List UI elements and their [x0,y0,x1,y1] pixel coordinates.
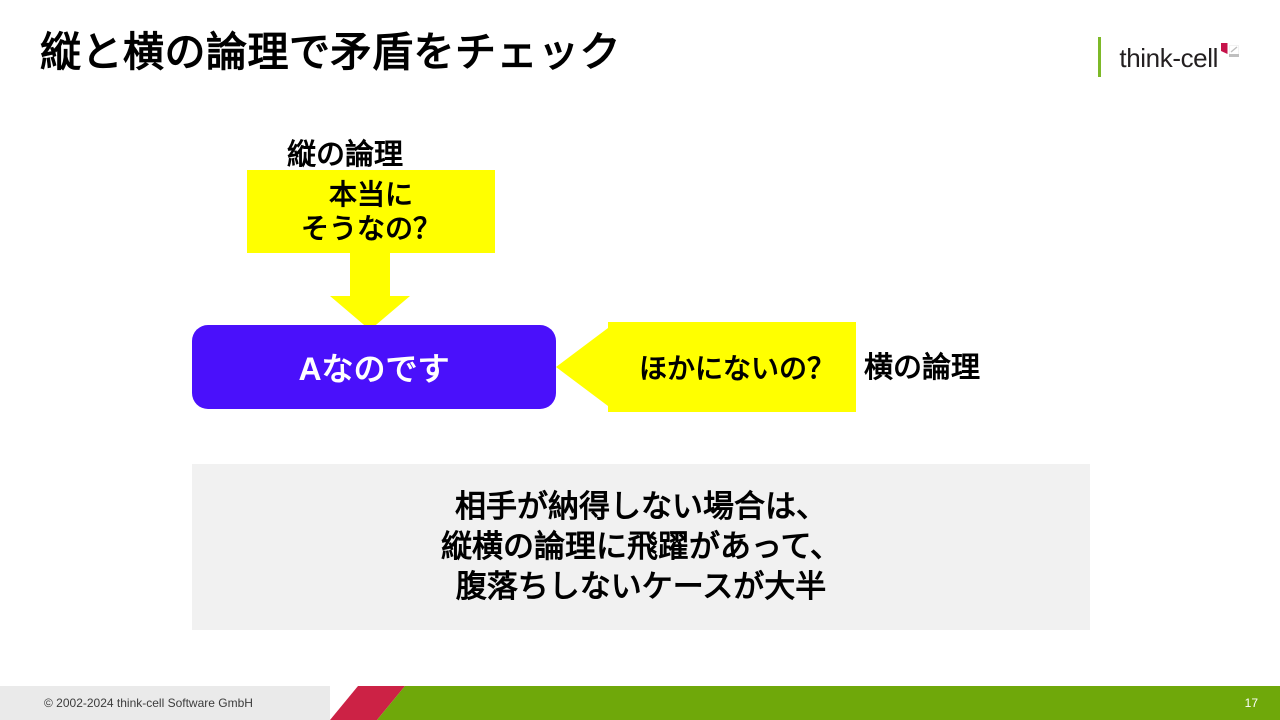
down-arrow-icon [329,252,411,331]
page-title: 縦と横の論理で矛盾をチェック [40,18,621,78]
conclusion-box: Aなのです [192,325,556,409]
summary-note-line-2: 縦横の論理に飛躍があって、 [441,527,841,567]
horizontal-logic-label: 横の論理 [864,344,980,386]
brand-logo: think-cell [1098,36,1240,78]
horizontal-question-arrow-box: ほかにないの？ [556,322,856,412]
horizontal-question-text: ほかにないの？ [618,322,856,412]
vertical-question-line-2: そうなの？ [301,212,441,245]
footer-bar: © 2002-2024 think-cell Software GmbH 17 [0,686,1280,720]
logo-divider-rule [1098,37,1101,77]
vertical-question-box: 本当に そうなの？ [247,170,495,253]
vertical-logic-label: 縦の論理 [287,131,403,173]
think-cell-mark-icon [1220,42,1240,62]
conclusion-text: Aなのです [298,344,449,390]
vertical-question-line-1: 本当に [329,178,413,211]
footer-copyright: © 2002-2024 think-cell Software GmbH [44,686,253,720]
logo-wordmark: think-cell [1119,45,1218,71]
summary-note-line-3: 腹落ちしないケースが大半 [456,567,826,607]
footer-page-number: 17 [1245,686,1258,720]
summary-note-box: 相手が納得しない場合は、 縦横の論理に飛躍があって、 腹落ちしないケースが大半 [192,464,1090,630]
summary-note-line-1: 相手が納得しない場合は、 [455,487,827,527]
